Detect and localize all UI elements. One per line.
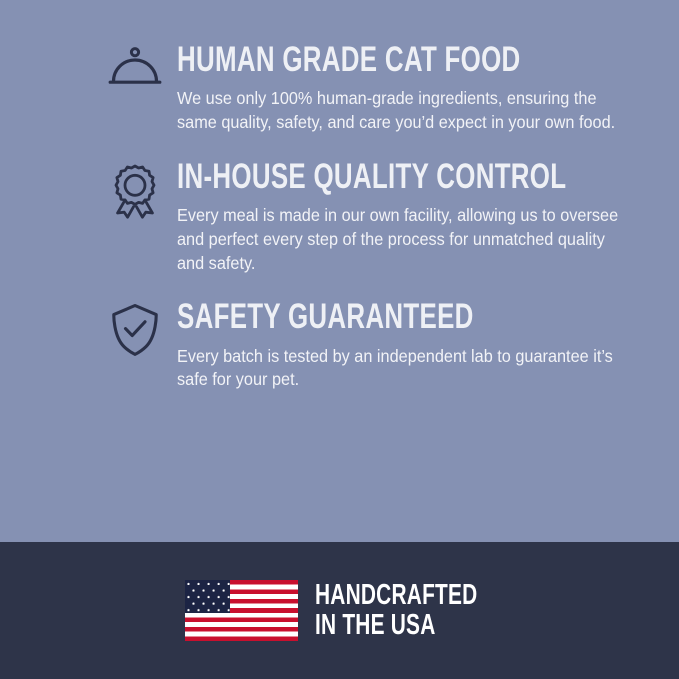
product-feature-banner: HUMAN GRADE CAT FOOD We use only 100% hu… [0, 0, 679, 679]
footer-line-2: IN THE USA [315, 611, 445, 641]
handcrafted-in-usa-label: HANDCRAFTED IN THE USA [315, 581, 445, 640]
award-ribbon-icon [104, 161, 166, 219]
feature-description: We use only 100% human-grade ingredients… [177, 87, 625, 135]
feature-description: Every batch is tested by an independent … [177, 345, 625, 393]
feature-description: Every meal is made in our own facility, … [177, 204, 625, 275]
footer-banner: HANDCRAFTED IN THE USA [0, 542, 679, 679]
shield-check-icon [104, 301, 166, 359]
feature-title: IN-HOUSE QUALITY CONTROL [177, 161, 510, 193]
feature-list: HUMAN GRADE CAT FOOD We use only 100% hu… [0, 0, 679, 542]
feature-title: HUMAN GRADE CAT FOOD [177, 44, 510, 76]
cloche-icon [104, 44, 166, 102]
feature-item-quality-control: IN-HOUSE QUALITY CONTROL Every meal is m… [104, 161, 627, 276]
feature-title: SAFETY GUARANTEED [177, 301, 510, 333]
footer-line-1: HANDCRAFTED [315, 581, 445, 611]
feature-body: IN-HOUSE QUALITY CONTROL Every meal is m… [166, 161, 627, 276]
feature-body: SAFETY GUARANTEED Every batch is tested … [166, 301, 627, 392]
feature-item-safety-guaranteed: SAFETY GUARANTEED Every batch is tested … [104, 301, 627, 392]
feature-body: HUMAN GRADE CAT FOOD We use only 100% hu… [166, 44, 627, 135]
feature-item-human-grade: HUMAN GRADE CAT FOOD We use only 100% hu… [104, 44, 627, 135]
usa-flag-icon [185, 580, 298, 641]
